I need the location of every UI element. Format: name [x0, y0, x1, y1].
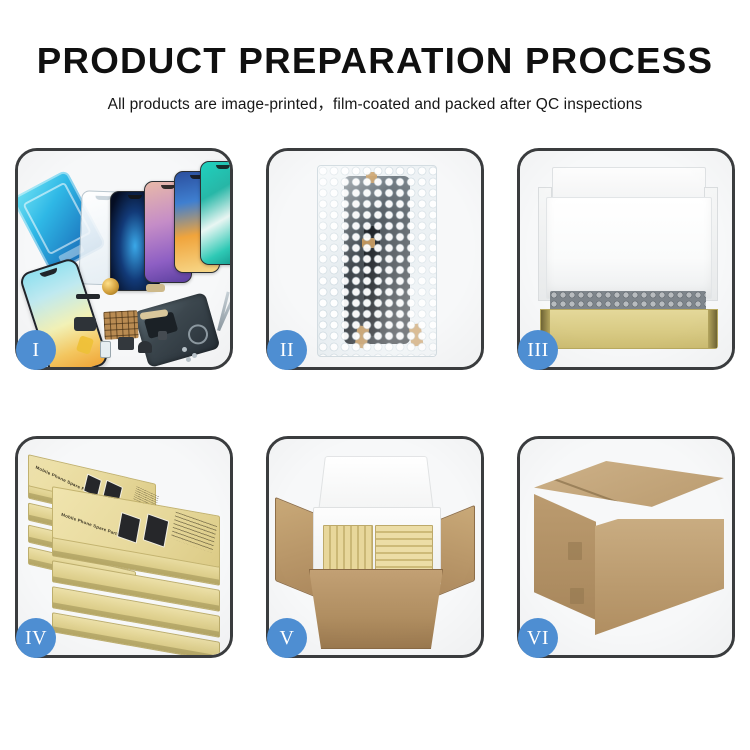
panel-badge-5: V — [267, 618, 307, 658]
product-preparation-infographic: PRODUCT PREPARATION PROCESS All products… — [0, 0, 750, 750]
panel-badge-6: VI — [518, 618, 558, 658]
panel-products[interactable]: I — [15, 148, 233, 370]
bag-sheen — [318, 166, 436, 356]
carton-right-face — [595, 519, 724, 635]
sim-tray-icon — [100, 341, 111, 358]
panel-badge-2: II — [267, 330, 307, 370]
taptic-icon — [138, 341, 152, 353]
speaker-icon — [118, 337, 134, 350]
carton-front-icon — [309, 569, 443, 649]
box-label-text: Mobile Phone Spare Parts — [61, 512, 120, 537]
tweezers-icon — [180, 291, 224, 335]
bubble-wrap-bag-icon — [317, 165, 437, 357]
panel-bubble-wrap[interactable]: II — [266, 148, 484, 370]
screw-icon — [192, 353, 197, 358]
process-panel-grid: I II — [15, 148, 735, 680]
phone-display-4-icon — [200, 161, 230, 265]
panel-stacked-boxes[interactable]: Mobile Phone Spare Parts Mobile Phone Sp… — [15, 436, 233, 658]
product-swatch — [117, 512, 141, 544]
chip-icon — [158, 331, 167, 340]
screw-grid-icon — [103, 310, 138, 340]
flex-cable-icon — [146, 284, 165, 292]
gold-coil-icon — [102, 278, 119, 295]
panel-inner-box[interactable]: III — [517, 148, 735, 370]
page-subtitle: All products are image-printed，film-coat… — [0, 80, 750, 114]
screw-icon — [182, 347, 187, 352]
panel-badge-4: IV — [16, 618, 56, 658]
yellow-box-base-icon — [540, 309, 718, 349]
tape-patch-icon — [568, 542, 582, 560]
panel-carton-packing[interactable]: V — [266, 436, 484, 658]
panel-badge-1: I — [16, 330, 56, 370]
screw-icon — [186, 357, 191, 362]
yellow-boxes-group-icon — [323, 525, 373, 571]
yellow-boxes-group-icon — [375, 525, 433, 571]
page-title: PRODUCT PREPARATION PROCESS — [0, 0, 750, 80]
product-swatch — [143, 513, 170, 547]
carton-left-face — [534, 494, 596, 620]
tape-patch-icon — [570, 588, 584, 604]
panel-badge-3: III — [518, 330, 558, 370]
panel-sealed-carton[interactable]: VI — [517, 436, 735, 658]
component-bar-icon — [76, 294, 100, 299]
header: PRODUCT PREPARATION PROCESS All products… — [0, 0, 750, 114]
white-foam-sheet-icon — [546, 197, 712, 299]
camera-module-icon — [74, 317, 96, 331]
box-print-lines — [171, 512, 217, 553]
